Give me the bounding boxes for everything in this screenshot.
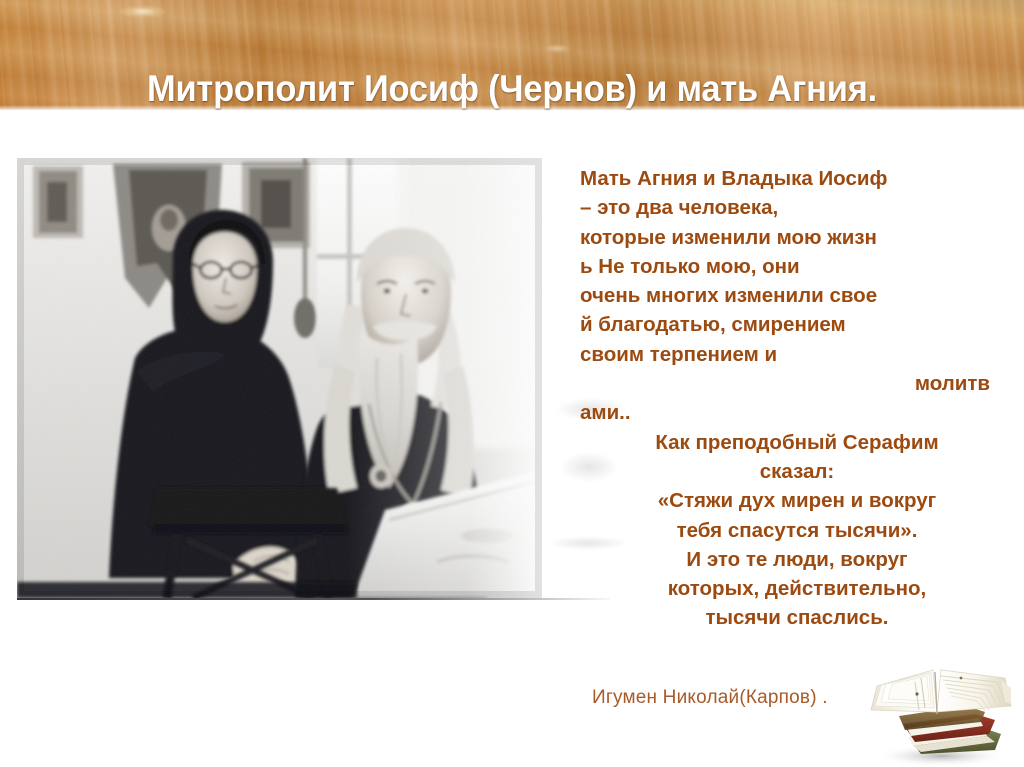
quote-paragraph-4: Как преподобный Серафим сказал: «Стяжи д… [580,428,1014,633]
quote-paragraph-3: ами.. [580,398,1014,427]
quote-paragraph-1: Мать Агния и Владыка Иосиф – это два чел… [580,164,1014,369]
quote-paragraph-2: молитв [580,369,1014,398]
books-illustration [855,658,1024,766]
historical-photo [17,158,542,598]
wood-knot-highlight-secondary [540,44,574,53]
wood-knot-highlight [120,6,166,17]
open-book-graphic [855,658,1024,766]
slide-root: Митрополит Иосиф (Чернов) и мать Агния. [0,0,1024,767]
historical-photo-graphic [17,158,542,598]
quote-text-block: Мать Агния и Владыка Иосиф – это два чел… [580,164,1014,633]
photo-baseline-rule [17,598,610,600]
page-title: Митрополит Иосиф (Чернов) и мать Агния. [36,67,988,111]
